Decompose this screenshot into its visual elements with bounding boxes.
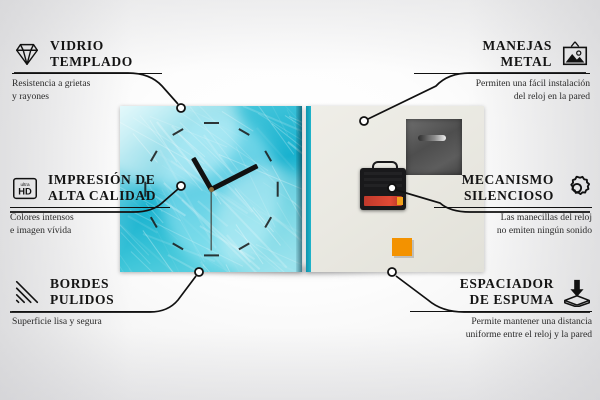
- arrow-down-pad-icon: [562, 277, 592, 307]
- feature-title-line2: TEMPLADO: [50, 54, 133, 70]
- metal-hanger-plate: [406, 119, 462, 175]
- feature-desc-line1: Superficie lisa y segura: [12, 316, 158, 329]
- feature-desc-line2: del reloj en la pared: [414, 91, 590, 104]
- feature-heading: MANEJAS METAL: [414, 38, 590, 70]
- feature-rule: [12, 73, 162, 75]
- product-feature-poster: VIDRIO TEMPLADO Resistencia a grietas y …: [0, 0, 600, 400]
- product-image: [120, 106, 480, 278]
- feature-impresion-alta-calidad: ultra HD IMPRESIÓN DE ALTA CALIDAD Color…: [10, 172, 170, 238]
- panel-side-edge: [306, 106, 311, 272]
- feature-title-line2: METAL: [483, 54, 552, 70]
- feature-title-line2: DE ESPUMA: [460, 292, 554, 308]
- feature-desc-line1: Las manecillas del reloj: [434, 212, 592, 225]
- diamond-icon: [12, 39, 42, 69]
- glass-edge: [296, 106, 302, 272]
- foam-spacer: [392, 238, 412, 256]
- feature-rule: [414, 73, 590, 75]
- feature-heading: VIDRIO TEMPLADO: [12, 38, 162, 70]
- feature-desc-line2: e imagen vívida: [10, 225, 170, 238]
- feature-mecanismo-silencioso: MECANISMO SILENCIOSO Las manecillas del …: [434, 172, 592, 238]
- feature-heading: ESPACIADOR DE ESPUMA: [410, 276, 592, 308]
- feature-rule: [10, 207, 170, 209]
- feature-manejas-metal: MANEJAS METAL Permiten una fácil instala…: [414, 38, 590, 104]
- feature-desc-line1: Permite mantener una distancia: [410, 316, 592, 329]
- feature-title-line1: MANEJAS: [483, 38, 552, 54]
- feature-title-line1: ESPACIADOR: [460, 276, 554, 292]
- feature-title-line1: VIDRIO: [50, 38, 133, 54]
- feature-title-line1: BORDES: [50, 276, 114, 292]
- polished-edges-icon: [12, 277, 42, 307]
- feature-desc-line2: no emiten ningún sonido: [434, 225, 592, 238]
- hanger-slot: [418, 135, 446, 141]
- feature-desc-line1: Permiten una fácil instalación: [414, 78, 590, 91]
- battery-terminal: [397, 197, 403, 205]
- feature-title-line2: SILENCIOSO: [462, 188, 554, 204]
- feature-espaciador-espuma: ESPACIADOR DE ESPUMA Permite mantener un…: [410, 276, 592, 342]
- feature-title-line2: PULIDOS: [50, 292, 114, 308]
- feature-title-line1: IMPRESIÓN DE: [48, 172, 156, 188]
- feature-bordes-pulidos: BORDES PULIDOS Superficie lisa y segura: [12, 276, 158, 329]
- movement-body: [364, 172, 402, 190]
- feature-heading: MECANISMO SILENCIOSO: [434, 172, 592, 204]
- gear-icon: [562, 173, 592, 203]
- feature-heading: ultra HD IMPRESIÓN DE ALTA CALIDAD: [10, 172, 170, 204]
- feature-desc-line1: Resistencia a grietas: [12, 78, 162, 91]
- feature-rule: [434, 207, 592, 209]
- feature-desc-line2: y rayones: [12, 91, 162, 104]
- feature-title-line2: ALTA CALIDAD: [48, 188, 156, 204]
- feature-desc-line2: uniforme entre el reloj y la pared: [410, 329, 592, 342]
- feature-title-line1: MECANISMO: [462, 172, 554, 188]
- feature-heading: BORDES PULIDOS: [12, 276, 158, 308]
- picture-frame-hook-icon: [560, 39, 590, 69]
- feature-rule: [410, 311, 592, 313]
- ultra-hd-icon: ultra HD: [10, 173, 40, 203]
- ultra-hd-icon-bottom-text: HD: [18, 186, 32, 196]
- feature-desc-line1: Colores intensos: [10, 212, 170, 225]
- feature-vidrio-templado: VIDRIO TEMPLADO Resistencia a grietas y …: [12, 38, 162, 104]
- clock-movement: [360, 168, 406, 210]
- feature-rule: [12, 311, 158, 313]
